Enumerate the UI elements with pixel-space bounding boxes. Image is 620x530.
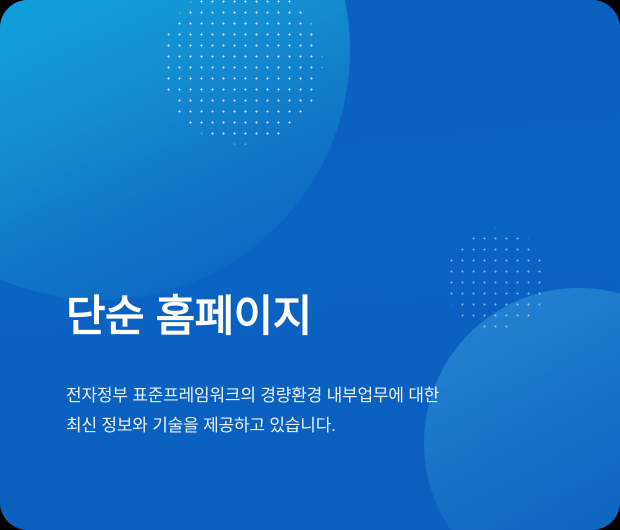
hero-content: 단순 홈페이지 전자정부 표준프레임워크의 경량환경 내부업무에 대한 최신 정… bbox=[66, 292, 580, 441]
hero-subtitle-line-1: 전자정부 표준프레임워크의 경량환경 내부업무에 대한 bbox=[66, 381, 566, 411]
hero-subtitle-line-2: 최신 정보와 기술을 제공하고 있습니다. bbox=[66, 411, 566, 441]
hero-banner: 단순 홈페이지 전자정부 표준프레임워크의 경량환경 내부업무에 대한 최신 정… bbox=[0, 0, 620, 530]
dot-grid-top-icon bbox=[152, 0, 332, 154]
page-title: 단순 홈페이지 bbox=[66, 292, 580, 343]
hero-subtitle: 전자정부 표준프레임워크의 경량환경 내부업무에 대한 최신 정보와 기술을 제… bbox=[66, 343, 566, 442]
